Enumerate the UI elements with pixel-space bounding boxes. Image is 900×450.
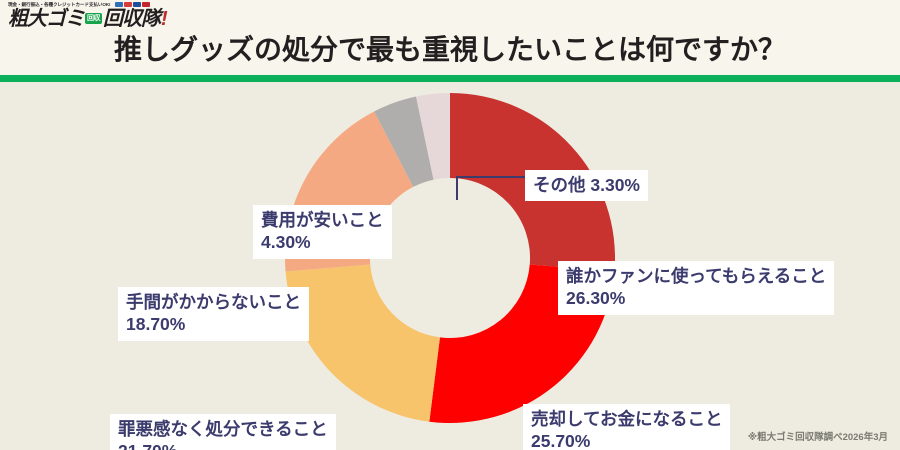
- brand-name-tail: !: [161, 9, 167, 29]
- slice-label-effort-value: 18.70%: [126, 313, 301, 335]
- slice-label-other-value: 3.30%: [590, 175, 640, 195]
- slice-label-guilt-value: 21.70%: [118, 440, 328, 450]
- slice-label-sell-value: 25.70%: [531, 430, 722, 450]
- slice-label-guilt: 罪悪感なく処分できること 21.70%: [110, 414, 336, 450]
- brand-tagline: 現金・銀行振込・各種クレジットカード支払いOK!: [8, 2, 168, 8]
- amex-chip-icon: [142, 2, 150, 7]
- page-title: 推しグッズの処分で最も重視したいことは何ですか？: [0, 28, 900, 68]
- source-note: ※粗大ゴミ回収隊調べ2026年3月: [748, 429, 888, 443]
- slice-label-effort-text: 手間がかからないこと: [126, 292, 301, 312]
- brand-name-main: 粗大ゴミ: [8, 9, 84, 29]
- mastercard-chip-icon: [124, 2, 132, 7]
- slice-label-fan-value: 26.30%: [566, 287, 826, 309]
- slice-label-other: その他 3.30%: [525, 170, 648, 201]
- slice-label-guilt-text: 罪悪感なく処分できること: [118, 419, 328, 439]
- slice-label-cost: 費用が安いこと 4.30%: [253, 205, 392, 259]
- brand-wordmark: 粗大ゴミ 回収 回収隊 !: [8, 9, 168, 29]
- slice-label-other-text: その他: [533, 175, 586, 195]
- slice-label-cost-text: 費用が安いこと: [261, 210, 384, 230]
- slice-label-sell-text: 売却してお金になること: [531, 409, 722, 429]
- slice-label-fan: 誰かファンに使ってもらえること 26.30%: [558, 261, 834, 315]
- brand-name-sub: 回収隊: [103, 9, 160, 29]
- jcb-chip-icon: [133, 2, 141, 7]
- payment-method-icons: [115, 2, 150, 7]
- other-leader-line: [456, 175, 528, 201]
- brand-tagline-text: 現金・銀行振込・各種クレジットカード支払いOK!: [8, 2, 111, 8]
- slice-label-fan-text: 誰かファンに使ってもらえること: [566, 266, 826, 286]
- slice-label-sell: 売却してお金になること 25.70%: [523, 404, 730, 450]
- brand-logo: 現金・銀行振込・各種クレジットカード支払いOK! 粗大ゴミ 回収 回収隊 !: [8, 2, 168, 29]
- chart-panel: その他 3.30% 誰かファンに使ってもらえること 26.30% 売却してお金に…: [0, 82, 900, 450]
- accent-divider: [0, 75, 900, 82]
- slice-label-effort: 手間がかからないこと 18.70%: [118, 287, 309, 341]
- slice-label-cost-value: 4.30%: [261, 231, 384, 253]
- visa-chip-icon: [115, 2, 123, 7]
- slide-root: 現金・銀行振込・各種クレジットカード支払いOK! 粗大ゴミ 回収 回収隊 ! 推…: [0, 0, 900, 450]
- truck-icon: 回収: [85, 13, 102, 24]
